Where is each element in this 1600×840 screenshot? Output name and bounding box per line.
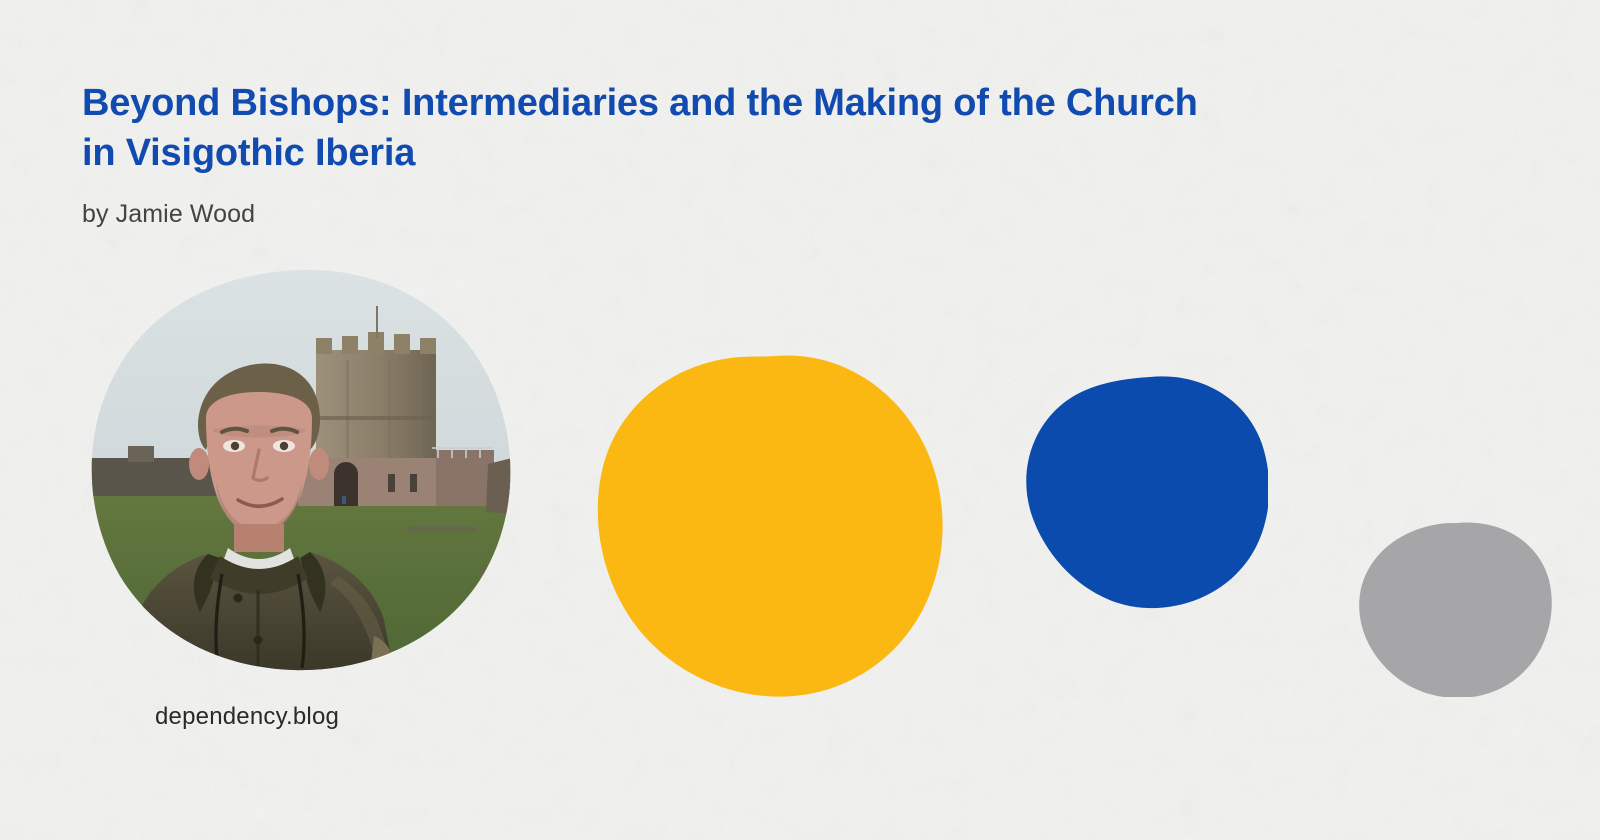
blue-blob xyxy=(1022,376,1268,609)
yellow-blob-shape xyxy=(598,355,943,696)
grey-blob-shape xyxy=(1359,523,1552,697)
grey-blob xyxy=(1355,522,1553,697)
author-byline: by Jamie Wood xyxy=(82,200,1372,229)
yellow-blob xyxy=(590,355,948,697)
blue-blob-shape xyxy=(1026,376,1268,608)
headline-block: Beyond Bishops: Intermediaries and the M… xyxy=(82,78,1372,229)
site-wordmark[interactable]: dependency.blog xyxy=(155,703,339,731)
avatar xyxy=(88,268,512,672)
social-card: Beyond Bishops: Intermediaries and the M… xyxy=(0,0,1600,840)
avatar-photo xyxy=(88,268,512,672)
page-title: Beyond Bishops: Intermediaries and the M… xyxy=(82,78,1372,178)
